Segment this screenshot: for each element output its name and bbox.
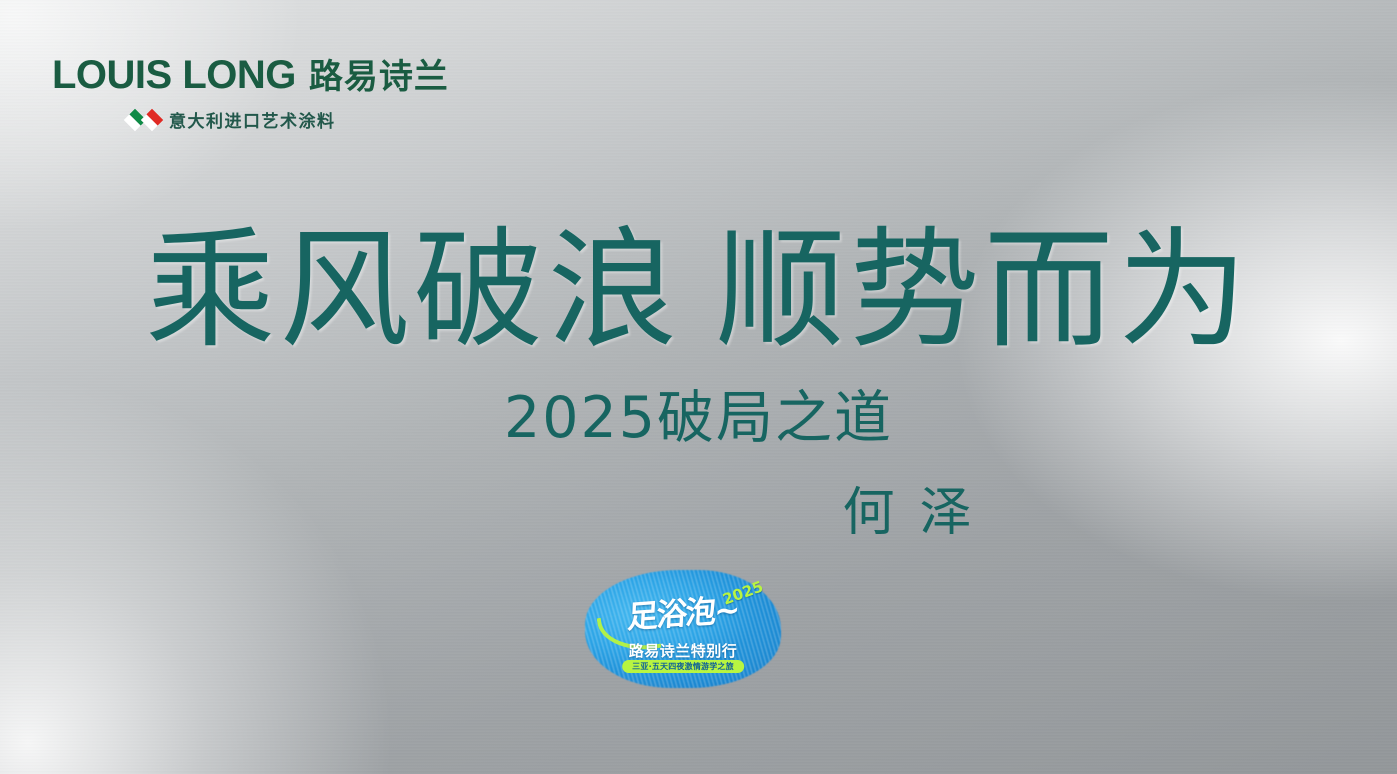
diamond-red-icon (141, 108, 164, 131)
badge-sub-line: 三亚·五天四夜激情游学之旅 (622, 660, 744, 673)
presenter-name: 何泽 (0, 470, 1397, 545)
logo-wordmark-row: LOUIS LONG 路易诗兰 (52, 55, 449, 95)
badge-main-line: 路易诗兰特别行 (585, 640, 781, 661)
presenter-surname: 何 (842, 483, 897, 543)
presentation-slide: LOUIS LONG 路易诗兰 意大利进口艺术涂料 乘风破浪顺势而为 2025破… (0, 0, 1397, 774)
campaign-badge: 2025 足浴泡~ 路易诗兰特别行 三亚·五天四夜激情游学之旅 (585, 570, 781, 688)
logo-cjk-name: 路易诗兰 (309, 60, 449, 94)
brand-logo: LOUIS LONG 路易诗兰 意大利进口艺术涂料 (52, 55, 449, 132)
headline-part-one: 乘风破浪 (145, 214, 681, 366)
logo-tagline-text: 意大利进口艺术涂料 (169, 107, 336, 132)
headline-part-two: 顺势而为 (716, 214, 1252, 366)
italian-flag-diamonds-icon (127, 112, 160, 128)
slide-headline: 乘风破浪顺势而为 (0, 222, 1397, 359)
slide-subtitle: 2025破局之道 (0, 372, 1397, 454)
presenter-given-name: 泽 (920, 483, 975, 543)
logo-tagline-row: 意大利进口艺术涂料 (127, 107, 449, 132)
logo-latin-name: LOUIS LONG (52, 55, 296, 95)
